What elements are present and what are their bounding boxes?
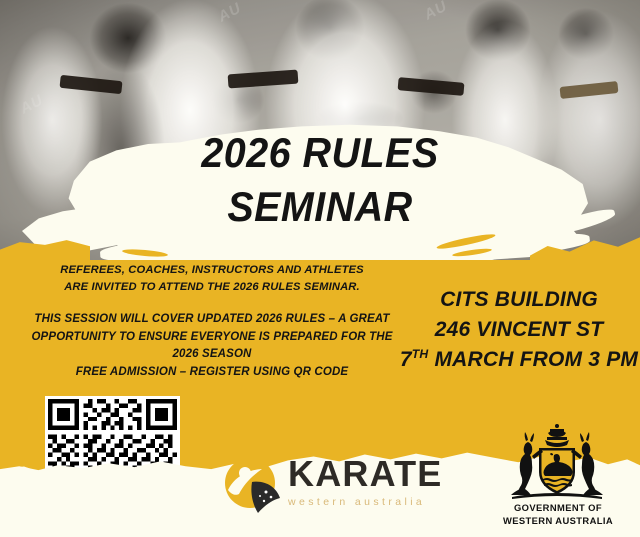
venue-details: CITS BUILDING 246 VINCENT ST 7TH MARCH F…	[398, 285, 640, 374]
invitation-paragraph: REFEREES, COACHES, INSTRUCTORS AND ATHLE…	[16, 262, 408, 297]
crest-label-line-2: WESTERN AUSTRALIA	[492, 515, 624, 528]
title-line-2: SEMINAR	[19, 180, 621, 234]
karate-logo-text: KARATE western australia	[288, 456, 458, 508]
date-ordinal: TH	[412, 347, 429, 361]
karate-wa-logo: KARATE western australia	[222, 452, 454, 520]
details-line-2: OPPORTUNITY TO ENSURE EVERYONE IS PREPAR…	[16, 329, 408, 347]
details-line-4: FREE ADMISSION – REGISTER USING QR CODE	[16, 364, 408, 382]
karate-subtitle: western australia	[288, 496, 458, 508]
venue-datetime: 7TH MARCH FROM 3 PM	[398, 345, 640, 375]
wa-government-crest-label: GOVERNMENT OF WESTERN AUSTRALIA	[492, 502, 624, 527]
poster-canvas: 202478400 AU AU AU 2026 RULES SEMINAR RE…	[0, 0, 640, 537]
poster-title: 2026 RULES SEMINAR	[0, 126, 640, 234]
date-day: 7	[400, 348, 412, 371]
title-line-1: 2026 RULES	[19, 126, 621, 180]
invitation-line-1: REFEREES, COACHES, INSTRUCTORS AND ATHLE…	[16, 262, 408, 279]
details-line-1: THIS SESSION WILL COVER UPDATED 2026 RUL…	[16, 311, 408, 329]
venue-street: 246 VINCENT ST	[398, 315, 640, 345]
karate-wordmark: KARATE	[288, 456, 458, 492]
date-rest: MARCH FROM 3 PM	[428, 348, 638, 371]
invitation-line-2: ARE INVITED TO ATTEND THE 2026 RULES SEM…	[16, 279, 408, 296]
body-copy: REFEREES, COACHES, INSTRUCTORS AND ATHLE…	[16, 262, 408, 382]
details-paragraph: THIS SESSION WILL COVER UPDATED 2026 RUL…	[16, 311, 408, 382]
venue-building: CITS BUILDING	[398, 285, 640, 315]
details-line-3: 2026 SEASON	[16, 346, 408, 364]
crest-label-line-1: GOVERNMENT OF	[492, 502, 624, 515]
karate-swan-mark-icon	[222, 456, 284, 514]
